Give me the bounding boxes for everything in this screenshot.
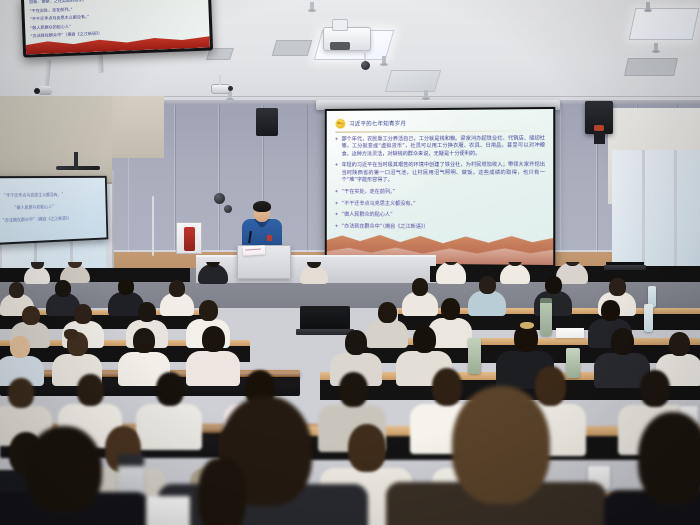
bullet-marker: ✦ <box>335 201 339 208</box>
audience-member <box>0 336 44 384</box>
slide-bullet: ✦ “办法就在群众中”（摘自《之江新语》） <box>335 223 546 231</box>
audience-member-foreground <box>604 412 700 525</box>
hair-clip <box>520 322 534 329</box>
audience-member <box>198 262 228 282</box>
hair-bun <box>64 329 78 340</box>
fire-extinguisher-cabinet[interactable] <box>176 222 202 254</box>
dome-camera <box>214 193 225 204</box>
left-window-blind[interactable] <box>0 96 112 184</box>
person-head <box>118 278 134 295</box>
bullet-camera <box>211 84 230 94</box>
person-head <box>413 326 436 353</box>
laptop <box>604 262 646 272</box>
sprinkler-head <box>382 56 386 63</box>
side-display-line: “做人民群众的贴心人” <box>14 203 100 211</box>
paper-cup <box>146 496 190 525</box>
person-head <box>202 326 225 352</box>
speaker-mount <box>594 132 605 144</box>
person-head <box>26 426 102 512</box>
bullet-marker: ✦ <box>335 137 339 159</box>
person-head <box>133 328 155 353</box>
person-head <box>10 336 30 358</box>
right-window <box>612 150 700 268</box>
person-head <box>545 276 562 294</box>
person-head <box>611 328 634 355</box>
side-display-line: “不干迁辛点马克思主义都没有。” <box>4 191 100 199</box>
person-head <box>199 300 218 321</box>
person-body <box>468 291 506 316</box>
sprinkler-head <box>646 2 650 9</box>
person-head <box>8 378 34 408</box>
bullet-marker: ✦ <box>335 189 339 196</box>
person-head <box>9 282 24 298</box>
lectern-notes <box>243 245 266 256</box>
person-head <box>601 300 620 321</box>
speaker-hair <box>253 201 271 212</box>
party-emblem-icon <box>336 119 346 129</box>
audience-member-foreground <box>0 426 150 525</box>
person-head <box>638 412 700 504</box>
sprinkler-head <box>654 43 658 50</box>
conduit-pipe <box>152 196 154 256</box>
slide-bullet: ✦ “做人民群众的贴心人” <box>335 212 546 220</box>
bullet-text: 年轻的习近平在当时极其艰苦的环境中创建了铁业社，为村民增加收入；带领大家开挖出当… <box>342 162 545 185</box>
bullet-text: 那个年代，农民靠工分养活自己，工分就是钱和粮。梁家河办起铁业社、代销店、缝纫社等… <box>342 135 545 158</box>
notebook <box>556 328 584 338</box>
camera-stem <box>219 75 221 85</box>
audience-member <box>24 262 50 282</box>
person-head <box>378 302 397 323</box>
slide-bullet: ✦ “干在实处，走在前列。” <box>335 189 546 197</box>
slide-title: 习近平的七年知青岁月 <box>349 119 406 127</box>
ponytail <box>198 458 246 525</box>
wall-speaker <box>256 108 278 136</box>
wall-speaker <box>585 101 613 134</box>
person-head <box>609 278 626 296</box>
ceiling-vent <box>272 40 313 56</box>
sprinkler-head <box>310 2 314 9</box>
person-head <box>640 370 670 407</box>
person-head <box>452 386 550 504</box>
ceiling-projector <box>323 27 371 51</box>
bullet-marker: ✦ <box>335 223 339 230</box>
audience-member <box>436 262 466 282</box>
sprinkler-head <box>424 90 428 97</box>
title-divider <box>336 130 539 132</box>
left-window-blind[interactable] <box>112 96 164 158</box>
audience-member-foreground <box>386 386 606 525</box>
person-head <box>55 280 71 297</box>
presentation-slide: 习近平的七年知青岁月 ✦ 那个年代，农民靠工分养活自己，工分就是钱和粮。梁家河办… <box>327 109 553 265</box>
audience-member <box>468 276 506 314</box>
person-head <box>169 280 185 297</box>
slide-bullet: ✦ 那个年代，农民靠工分养活自己，工分就是钱和粮。梁家河办起铁业社、代销店、缝纫… <box>335 135 546 158</box>
bullet-text: “办法就在群众中”（摘自《之江新语》） <box>342 223 429 231</box>
ceiling-vent <box>624 58 678 76</box>
person-head <box>441 298 460 320</box>
overhead-repeater-monitor: 目标、使命、之在实处的知乎。 “干在实处，走在前列。” “不干迁辛点马克思主义都… <box>21 0 213 58</box>
lapel-badge <box>267 235 272 241</box>
left-side-repeater-screen: “不干迁辛点马克思主义都没有。” “做人民群众的贴心人” “办法就在群众中”（摘… <box>0 176 108 245</box>
dome-camera <box>361 61 370 70</box>
person-head <box>138 302 156 322</box>
person-head <box>479 276 496 294</box>
person-body <box>198 264 228 284</box>
audience-member <box>60 262 90 282</box>
bullet-text: “不干迁辛点马克思主义都没有。” <box>342 201 416 209</box>
person-head <box>74 304 92 324</box>
person-head <box>22 306 40 325</box>
person-body <box>436 262 466 284</box>
fire-extinguisher-icon <box>184 227 195 251</box>
ceiling-panel <box>385 70 441 92</box>
side-display-line: “办法就在群众中”（摘自《之江新语》） <box>2 215 100 224</box>
person-head <box>412 278 428 296</box>
bullet-text: “做人民群众的贴心人” <box>342 212 393 220</box>
bullet-camera <box>38 86 52 95</box>
audience-member <box>300 262 328 282</box>
audience-area <box>0 262 700 525</box>
projection-screen: 习近平的七年知青岁月 ✦ 那个年代，农民靠工分养活自己，工分就是钱和粮。梁家河办… <box>325 107 555 267</box>
slide-bullet: ✦ 年轻的习近平在当时极其艰苦的环境中创建了铁业社，为村民增加收入；带领大家开挖… <box>335 162 546 185</box>
display-arm <box>74 152 78 170</box>
thermos-cap <box>540 298 552 303</box>
person-head <box>345 330 367 355</box>
person-head <box>669 332 690 356</box>
lecture-hall-photo: 目标、使命、之在实处的知乎。 “干在实处，走在前列。” “不干迁辛点马克思主义都… <box>0 0 700 525</box>
person-head <box>77 374 104 406</box>
bullet-text: “干在实处，走在前列。” <box>342 189 396 196</box>
slide-bullet: ✦ “不干迁辛点马克思主义都没有。” <box>335 201 546 209</box>
slide-body: ✦ 那个年代，农民靠工分养活自己，工分就是钱和粮。梁家河办起铁业社、代销店、缝纫… <box>335 135 546 235</box>
dome-camera <box>224 205 232 213</box>
bullet-marker: ✦ <box>335 163 339 185</box>
bullet-marker: ✦ <box>335 212 339 219</box>
ceiling-light-panel <box>629 8 700 40</box>
display-arm <box>56 166 100 170</box>
